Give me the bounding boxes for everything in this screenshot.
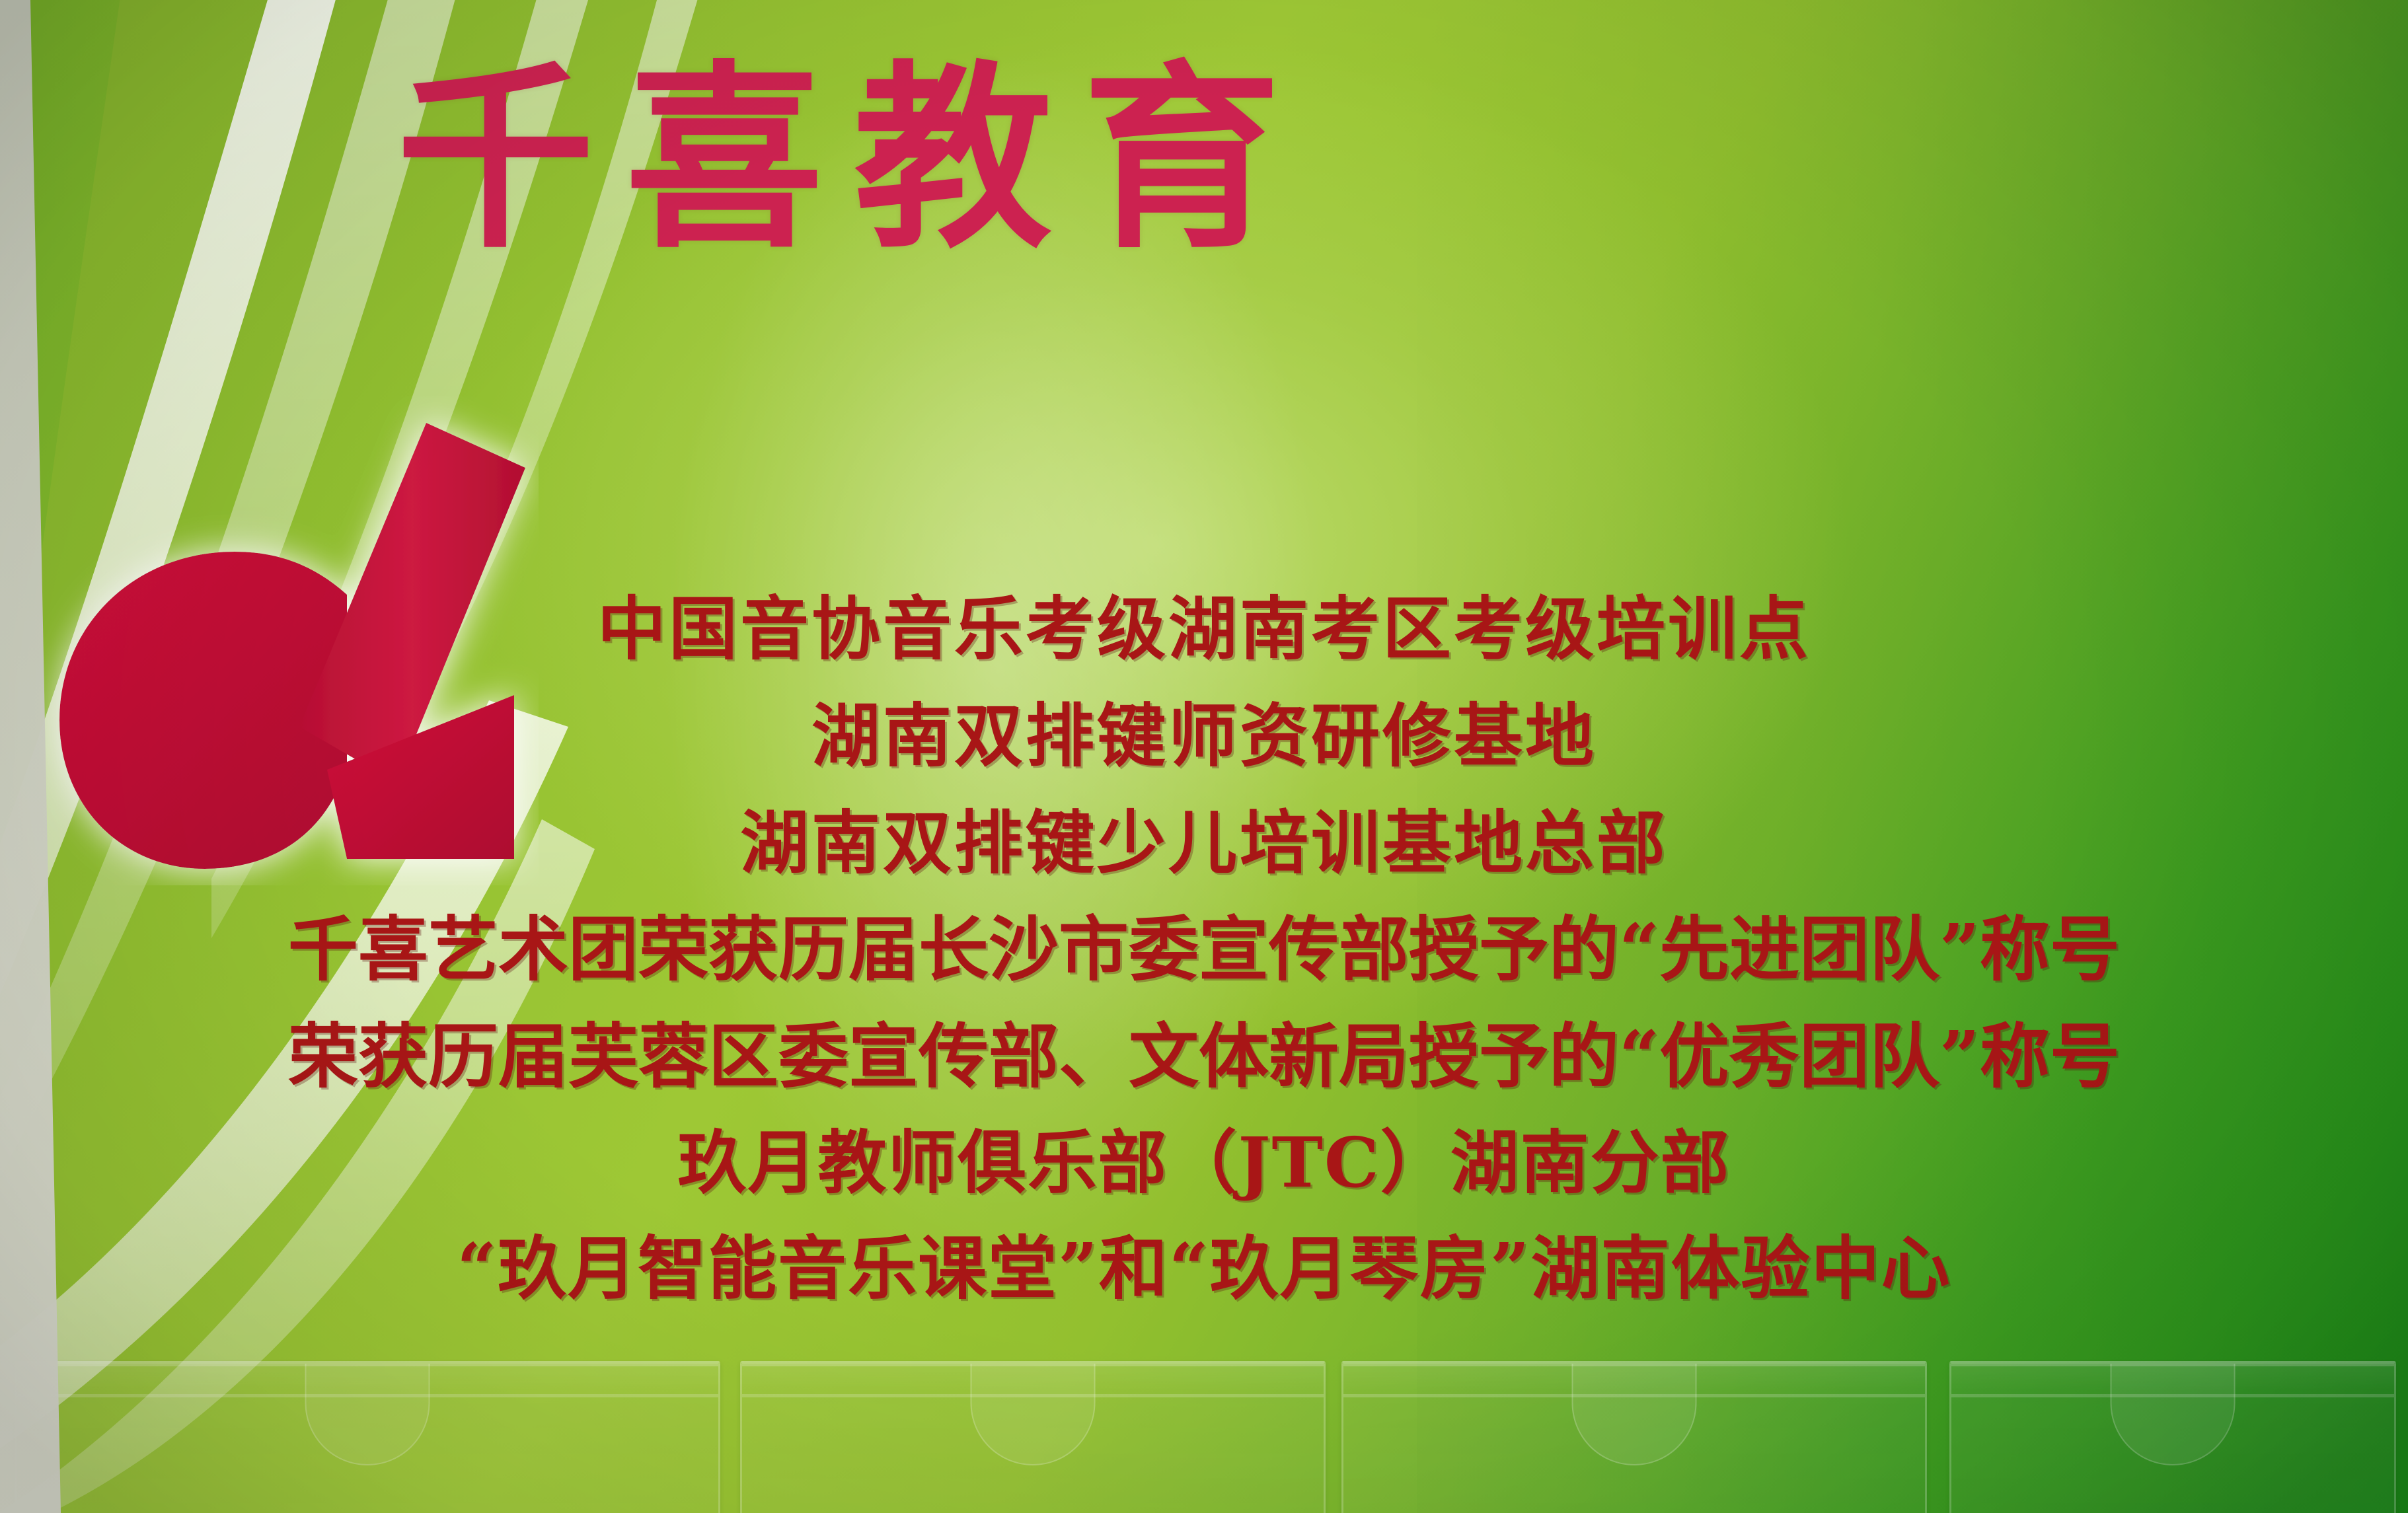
credential-list: 中国音协音乐考级湖南考区考级培训点 湖南双排键师资研修基地 湖南双排键少儿培训基… (0, 595, 2408, 1303)
holder-notch (305, 1361, 430, 1465)
page-title: 千喜教育 (396, 59, 2062, 258)
holder-notch (1572, 1361, 1697, 1465)
credential-line: 湖南双排键少儿培训基地总部 (0, 809, 2408, 877)
credential-line: 中国音协音乐考级湖南考区考级培训点 (0, 595, 2408, 663)
brochure-holder-row (0, 1361, 2408, 1513)
credential-line: 湖南双排键师资研修基地 (0, 702, 2408, 770)
holder-notch (971, 1361, 1096, 1465)
brochure-holder[interactable] (15, 1361, 720, 1513)
brochure-holder[interactable] (1949, 1361, 2396, 1513)
signboard-photo: 千喜教育 中国音协音乐考级湖南考区考级培训点 湖南双排键师资研修基地 湖南双排键… (0, 0, 2408, 1513)
credential-line: 玖月教师俱乐部（JTC）湖南分部 (0, 1128, 2408, 1197)
credential-line: 千喜艺术团荣获历届长沙市委宣传部授予的“先进团队”称号 (0, 914, 2408, 984)
credential-line: 荣获历届芙蓉区委宣传部、文体新局授予的“优秀团队”称号 (0, 1021, 2408, 1091)
credential-line: “玖月智能音乐课堂”和“玖月琴房”湖南体验中心 (0, 1234, 2408, 1303)
holder-notch (2111, 1361, 2236, 1465)
brochure-holder[interactable] (1341, 1361, 1927, 1513)
brochure-holder[interactable] (740, 1361, 1326, 1513)
